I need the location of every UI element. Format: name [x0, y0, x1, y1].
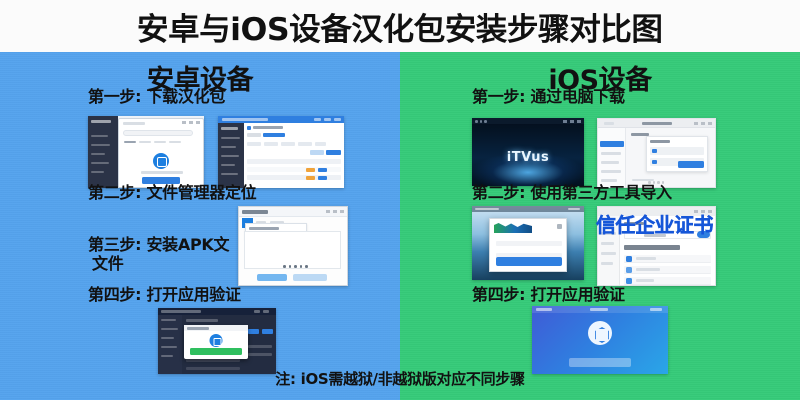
itvus-wordmark: iTVus [472, 150, 584, 165]
cancel-button [257, 274, 287, 281]
ios-step-2-label: 第二步: 使用第三方工具导入 [472, 184, 672, 201]
verify-dialog [184, 325, 248, 359]
android-step-3-label: 第三步: 安装APK文 [88, 236, 229, 253]
shot-admin-table [218, 116, 344, 188]
shot-file-manager [238, 206, 348, 286]
shot-login-dialog [472, 206, 584, 280]
ios-step-4-label: 第四步: 打开应用验证 [472, 286, 625, 303]
confirm-button [190, 348, 242, 355]
android-step-2-label: 第二步: 文件管理器定位 [88, 184, 256, 201]
ios-step-1-label: 第一步: 通过电脑下载 [472, 88, 625, 105]
launch-button [569, 358, 631, 367]
shot-content [244, 123, 344, 188]
shot-app-splash [532, 306, 668, 374]
shot-verify-modal [158, 308, 276, 374]
trust-cert-overlay-label: 信任企业证书 [596, 209, 713, 238]
import-button [678, 161, 704, 168]
app-logo-icon [153, 153, 169, 169]
close-icon [557, 224, 562, 229]
hero-banner: iTVus [472, 124, 584, 186]
login-panel [489, 218, 567, 272]
install-button [293, 274, 327, 281]
app-hex-icon [588, 321, 612, 345]
shot-titlebar [532, 306, 668, 313]
android-step-1-label: 第一步: 下载汉化包 [88, 88, 225, 105]
infographic-root: 安卓与iOS设备汉化包安装步骤对比图 安卓设备 第一步: 下载汉化包 第二步: … [0, 0, 800, 400]
shot-titlebar [239, 207, 347, 217]
shot-sidebar [88, 116, 118, 188]
page-title: 安卓与iOS设备汉化包安装步骤对比图 [137, 4, 663, 49]
android-step-4-label: 第四步: 打开应用验证 [88, 286, 241, 303]
shot-url-bar [123, 130, 193, 136]
window-controls-icon [182, 121, 200, 124]
shot-sidebar [218, 123, 244, 188]
shot-titlebar [598, 119, 715, 128]
file-list-canvas [244, 231, 341, 269]
shot-itvus-hero: iTVus [472, 118, 584, 186]
android-step-3-label-wrap: 文件 [92, 255, 123, 272]
import-dialog [646, 136, 708, 172]
footer-note: 注: iOS需越狱/非越狱版对应不同步骤 [0, 368, 800, 389]
shot-sidebar [598, 128, 626, 187]
sidebar-selected-item [600, 141, 624, 147]
title-band: 安卓与iOS设备汉化包安装步骤对比图 [0, 0, 800, 52]
shot-titlebar [218, 116, 344, 123]
login-button [496, 257, 562, 266]
shot-titlebar [158, 308, 276, 315]
tool-logo-icon [494, 223, 532, 233]
shot-browser-window [118, 118, 204, 188]
shot-browser-download [88, 116, 204, 188]
shot-titlebar [472, 206, 584, 212]
shot-sidebar [158, 315, 182, 374]
shield-icon [210, 334, 223, 347]
shot-itunes-import [597, 118, 716, 188]
